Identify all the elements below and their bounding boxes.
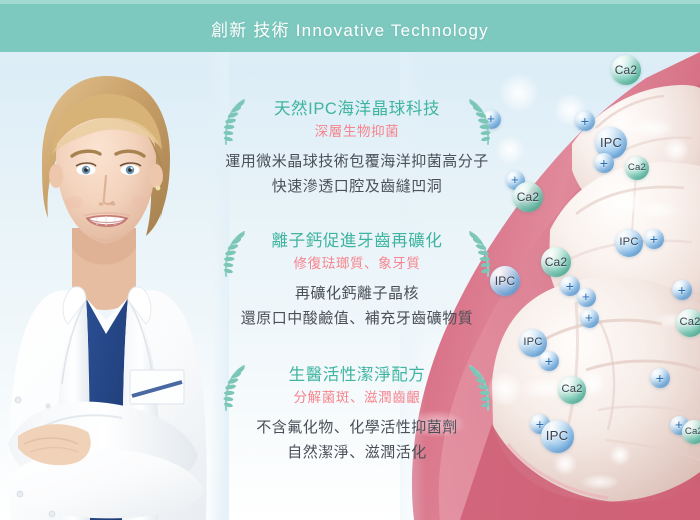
ion-bubble-ipc: IPC — [541, 420, 574, 453]
laurel-sprig-icon — [222, 230, 248, 278]
ion-bubble-ca2: Ca2 — [611, 55, 641, 85]
ion-bubble-plus: + — [672, 280, 692, 300]
page-title: 創新 技術 Innovative Technology — [211, 16, 489, 41]
doctor-photo — [0, 52, 229, 520]
ion-bubble-label: + — [545, 354, 553, 368]
feature-body-line: 再礦化鈣離子晶核 — [218, 282, 496, 307]
feature-heading-2: 離子鈣促進牙齒再礦化 — [248, 230, 466, 252]
feature-block-3: 生醫活性潔淨配方 分解菌斑、滋潤齒齦 — [218, 364, 496, 466]
feature-body-line: 自然潔淨、滋潤活化 — [218, 441, 496, 466]
ion-bubble-label: Ca2 — [545, 256, 568, 268]
ion-bubble-label: IPC — [546, 429, 569, 442]
feature-body-3: 不含氟化物、化學活性抑菌劑 自然潔淨、滋潤活化 — [218, 416, 496, 466]
feature-body-2: 再礦化鈣離子晶核 還原口中酸鹼值、補充牙齒礦物質 — [218, 282, 496, 332]
feature-body-line: 快速滲透口腔及齒縫凹洞 — [218, 175, 496, 200]
feature-heading-group-3: 生醫活性潔淨配方 分解菌斑、滋潤齒齦 — [218, 364, 496, 408]
ion-bubble-ca2: Ca2 — [558, 376, 586, 404]
feature-heading-1: 天然IPC海洋晶球科技 — [248, 98, 466, 120]
ion-bubble-ca2: Ca2 — [625, 156, 649, 180]
ion-bubble-label: IPC — [619, 237, 638, 248]
ion-bubble-label: + — [582, 290, 590, 303]
ion-bubble-label: + — [600, 156, 608, 170]
feature-subheading-3: 分解菌斑、滋潤齒齦 — [248, 388, 466, 408]
ion-bubble-ca2: Ca2 — [676, 309, 700, 337]
ion-bubble-plus: + — [577, 288, 596, 307]
ion-bubble-label: + — [678, 283, 686, 297]
feature-body-line: 不含氟化物、化學活性抑菌劑 — [218, 416, 496, 441]
feature-heading-group-2: 離子鈣促進牙齒再礦化 修復琺瑯質、象牙質 — [218, 230, 496, 274]
ion-bubble-label: + — [566, 279, 574, 293]
laurel-sprig-icon — [222, 98, 248, 146]
ion-bubble-plus: + — [644, 229, 664, 249]
feature-copy-column: 天然IPC海洋晶球科技 深層生物抑菌 — [218, 52, 496, 520]
ion-bubble-label: Ca2 — [517, 191, 540, 203]
ion-bubble-label: + — [585, 311, 593, 324]
feature-heading-group-1: 天然IPC海洋晶球科技 深層生物抑菌 — [218, 98, 496, 142]
ion-bubble-label: Ca2 — [561, 384, 582, 395]
ion-bubble-label: + — [581, 114, 589, 128]
ion-bubble-label: IPC — [600, 137, 622, 150]
ion-bubble-label: + — [656, 371, 664, 385]
feature-body-line: 還原口中酸鹼值、補充牙齒礦物質 — [218, 307, 496, 332]
feature-block-1: 天然IPC海洋晶球科技 深層生物抑菌 — [218, 98, 496, 200]
header-bar: 創新 技術 Innovative Technology — [0, 0, 700, 52]
feature-body-1: 運用微米晶球技術包覆海洋抑菌高分子 快速滲透口腔及齒縫凹洞 — [218, 150, 496, 200]
ion-bubble-label: IPC — [523, 337, 542, 348]
ion-bubble-plus: + — [594, 153, 614, 173]
laurel-sprig-icon — [466, 98, 492, 146]
ion-bubble-label: IPC — [495, 275, 516, 287]
laurel-sprig-icon — [466, 230, 492, 278]
ion-bubble-plus: + — [539, 351, 559, 371]
ion-bubble-label: Ca2 — [615, 64, 638, 76]
feature-subheading-2: 修復琺瑯質、象牙質 — [248, 254, 466, 274]
ion-bubble-ipc: IPC — [615, 229, 643, 257]
ion-bubble-plus: + — [580, 309, 599, 328]
feature-body-line: 運用微米晶球技術包覆海洋抑菌高分子 — [218, 150, 496, 175]
ion-bubble-ca2: Ca2 — [682, 420, 700, 444]
laurel-sprig-icon — [466, 364, 492, 412]
ion-bubble-label: Ca2 — [685, 427, 700, 437]
feature-heading-3: 生醫活性潔淨配方 — [248, 364, 466, 386]
ion-bubble-label: + — [650, 232, 658, 246]
ion-bubble-ca2: Ca2 — [513, 182, 543, 212]
ion-bubble-label: Ca2 — [679, 317, 700, 328]
ion-bubble-ca2: Ca2 — [541, 247, 571, 277]
ion-bubble-label: Ca2 — [628, 163, 646, 173]
ad-banner: 創新 技術 Innovative Technology — [0, 0, 700, 520]
laurel-sprig-icon — [222, 364, 248, 412]
ion-bubble-plus: + — [575, 111, 595, 131]
ion-bubble-plus: + — [650, 368, 670, 388]
feature-block-2: 離子鈣促進牙齒再礦化 修復琺瑯質、象牙質 — [218, 230, 496, 332]
feature-subheading-1: 深層生物抑菌 — [248, 122, 466, 142]
